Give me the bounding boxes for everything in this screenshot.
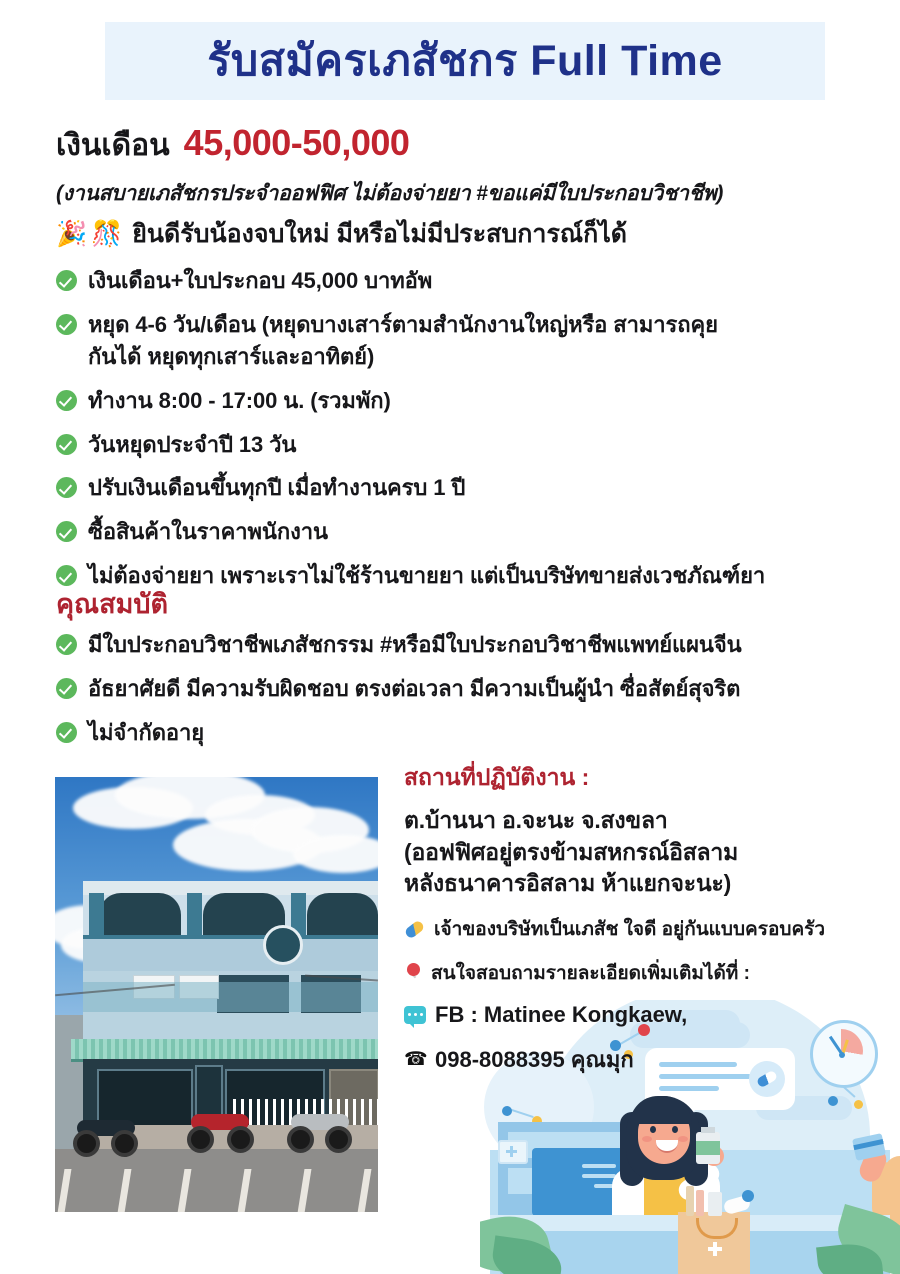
address-line-1: ต.บ้านนา อ.จะนะ จ.สงขลา <box>404 805 874 837</box>
check-circle-icon <box>56 634 77 655</box>
welcome-text: ยินดีรับน้องจบใหม่ มีหรือไม่มีประสบการณ์… <box>132 214 627 254</box>
list-item: ทำงาน 8:00 - 17:00 น. (รวมพัก) <box>56 385 856 417</box>
check-circle-icon <box>56 477 77 498</box>
list-item-label: อัธยาศัยดี มีความรับผิดชอบ ตรงต่อเวลา มี… <box>88 673 740 705</box>
qualifications-heading: คุณสมบัติ <box>56 582 168 625</box>
list-item: มีใบประกอบวิชาชีพเภสัชกรรม #หรือมีใบประก… <box>56 629 856 661</box>
pill-icon <box>404 919 425 940</box>
check-circle-icon <box>56 678 77 699</box>
confetti-ball-icon: 🎊 <box>91 222 122 247</box>
list-item: ปรับเงินเดือนขึ้นทุกปี เมื่อทำงานครบ 1 ป… <box>56 472 856 504</box>
list-item: วันหยุดประจำปี 13 วัน <box>56 429 856 461</box>
qualifications-list: มีใบประกอบวิชาชีพเภสัชกรรม #หรือมีใบประก… <box>56 629 856 761</box>
salary-row: เงินเดือน 45,000-50,000 <box>56 122 409 169</box>
check-circle-icon <box>56 434 77 455</box>
location-heading: สถานที่ปฏิบัติงาน : <box>404 760 874 796</box>
title-banner: รับสมัครเภสัชกร Full Time <box>105 22 825 100</box>
check-circle-icon <box>56 314 77 335</box>
owner-note-row: เจ้าของบริษัทเป็นเภสัช ใจดี อยู่กันแบบคร… <box>404 914 874 944</box>
phone-number: 098-8088395 คุณมุก <box>435 1042 634 1077</box>
speech-bubble-icon <box>404 1006 426 1024</box>
inquiry-note: สนใจสอบถามรายละเอียดเพิ่มเติมได้ที่ : <box>431 958 750 988</box>
list-item-label: ไม่ต้องจ่ายยา เพราะเราไม่ใช้ร้านขายยา แต… <box>88 560 765 592</box>
welcome-row: 🎉 🎊 ยินดีรับน้องจบใหม่ มีหรือไม่มีประสบก… <box>56 214 627 254</box>
check-circle-icon <box>56 722 77 743</box>
list-item-label: หยุด 4-6 วัน/เดือน (หยุดบางเสาร์ตามสำนัก… <box>88 309 728 373</box>
phone-row[interactable]: ☎ 098-8088395 คุณมุก <box>404 1042 874 1077</box>
list-item-label: เงินเดือน+ใบประกอบ 45,000 บาทอัพ <box>88 265 432 297</box>
list-item: เงินเดือน+ใบประกอบ 45,000 บาทอัพ <box>56 265 856 297</box>
illus-shopping-bag <box>678 1212 750 1274</box>
photo-arch <box>99 893 181 939</box>
pharmacist-illustration: ☤ <box>480 1000 900 1274</box>
list-item-label: มีใบประกอบวิชาชีพเภสัชกรรม #หรือมีใบประก… <box>88 629 742 661</box>
photo-road <box>55 1149 378 1212</box>
illus-monitor <box>532 1148 624 1216</box>
photo-balcony-lower <box>83 982 378 1012</box>
salary-label: เงินเดือน <box>56 122 170 169</box>
list-item: ไม่จำกัดอายุ <box>56 717 856 749</box>
illus-bag-item <box>686 1186 694 1216</box>
list-item-label: ซื้อสินค้าในราคาพนักงาน <box>88 516 328 548</box>
illus-bag-item <box>696 1190 704 1216</box>
list-item: หยุด 4-6 วัน/เดือน (หยุดบางเสาร์ตามสำนัก… <box>56 309 856 373</box>
check-circle-icon <box>56 390 77 411</box>
photo-arch <box>307 893 378 939</box>
owner-note: เจ้าของบริษัทเป็นเภสัช ใจดี อยู่กันแบบคร… <box>434 914 825 944</box>
illus-bag-item <box>742 1190 754 1202</box>
illus-medicine-bottle <box>696 1132 720 1164</box>
first-aid-kit-icon <box>498 1140 528 1164</box>
list-item: อัธยาศัยดี มีความรับผิดชอบ ตรงต่อเวลา มี… <box>56 673 856 705</box>
photo-logo-emblem <box>263 925 303 965</box>
photo-motorcycle <box>287 1112 347 1146</box>
map-pin-icon <box>404 962 422 984</box>
inquiry-note-row: สนใจสอบถามรายละเอียดเพิ่มเติมได้ที่ : <box>404 958 874 988</box>
office-building-photo <box>55 777 378 1212</box>
facebook-handle: FB : Matinee Kongkaew, <box>435 1002 687 1028</box>
list-item: ไม่ต้องจ่ายยา เพราะเราไม่ใช้ร้านขายยา แต… <box>56 560 856 592</box>
illus-bag-item <box>708 1192 722 1216</box>
address-line-2: (ออฟฟิศอยู่ตรงข้ามสหกรณ์อิสลาม <box>404 837 874 869</box>
list-item-label: ทำงาน 8:00 - 17:00 น. (รวมพัก) <box>88 385 391 417</box>
page-title: รับสมัครเภสัชกร Full Time <box>207 40 722 83</box>
photo-motorcycle <box>187 1112 249 1148</box>
photo-motorcycle <box>73 1116 133 1150</box>
facebook-row[interactable]: FB : Matinee Kongkaew, <box>404 1002 874 1028</box>
benefits-list: เงินเดือน+ใบประกอบ 45,000 บาทอัพ หยุด 4-… <box>56 265 856 604</box>
check-circle-icon <box>56 521 77 542</box>
telephone-icon: ☎ <box>404 1050 426 1070</box>
salary-note: (งานสบายเภสัชกรประจำออฟฟิศ ไม่ต้องจ่ายยา… <box>56 177 723 210</box>
salary-value: 45,000-50,000 <box>184 122 410 164</box>
list-item-label: ปรับเงินเดือนขึ้นทุกปี เมื่อทำงานครบ 1 ป… <box>88 472 465 504</box>
list-item-label: ไม่จำกัดอายุ <box>88 717 204 749</box>
party-popper-icon: 🎉 <box>56 222 87 247</box>
list-item-label: วันหยุดประจำปี 13 วัน <box>88 429 296 461</box>
check-circle-icon <box>56 270 77 291</box>
list-item: ซื้อสินค้าในราคาพนักงาน <box>56 516 856 548</box>
address-line-3: หลังธนาคารอิสลาม ห้าแยกจะนะ) <box>404 868 874 900</box>
